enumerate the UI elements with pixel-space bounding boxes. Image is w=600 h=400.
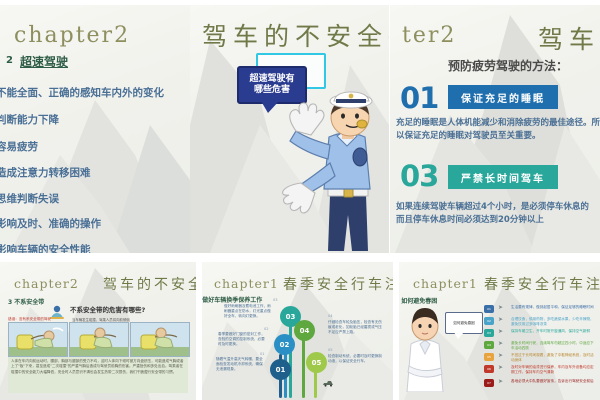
list-badge-6: 06 <box>484 365 494 373</box>
thumb3-speech-bubble: 如何避免春困 <box>445 312 483 334</box>
thumb3-title: 春季安全行车注意事 <box>484 274 600 294</box>
thumb1-title: 驾车的不安全行 <box>103 274 196 294</box>
comic-panel-3 <box>130 322 190 357</box>
thumb1-body-text: 人体在车内向前运动时，腰部、胸部与腿部的受力不均，这时人体向下倾时被方向盘挤压，… <box>11 359 185 375</box>
timeline-label-5: 05 <box>328 348 333 352</box>
panel-c-item-1-number: 01 <box>400 81 438 115</box>
thumb2-chapter-label: chapter1 <box>214 276 279 291</box>
arrow-icon-6: ➤ <box>498 364 503 371</box>
thumb3-chapter-label: chapter1 <box>413 276 478 291</box>
slide-panel-unsafe-driving[interactable]: 驾车的不安全行 超速驾驶有 哪些危害 <box>190 5 389 253</box>
panel-c-item-1-body: 充足的睡眠是人体机能减少和消除疲劳的最佳途径。所以保证充足的睡眠对驾驶员至关重要… <box>396 117 600 143</box>
panel-c-heading: 预防疲劳驾驶的方法： <box>448 57 568 74</box>
panel-a-bullet-5: 思维判断失误 <box>0 191 59 206</box>
timeline-dot-1[interactable]: 01 <box>270 359 291 380</box>
thumb3-row-text-3: 保持车厢卫生，开车时常开窗通风，保持空气新鲜 <box>511 329 595 334</box>
panel-a-bullet-3: 容易疲劳 <box>0 139 38 154</box>
thumb1-seated-person-icon <box>49 304 65 323</box>
timeline-text-5: 检查制动系统，必要时及时更换制动液，以保证安全行车。 <box>328 354 382 364</box>
thumb2-section-label: 2 做好车辆换季保养工作 <box>202 295 262 304</box>
thumb3-row-text-1: 生活要有规律，做到起居平和，保证足够的睡眠时间 <box>511 305 595 310</box>
thumb2-car-icon <box>322 372 334 391</box>
thumb3-row-text-2: 合理饮食，慎用药物，多吃蔬菜水果，少吃辛辣物，避免饮用过多咖啡浓茶 <box>511 317 595 327</box>
thumbnail-avoid-spring-fatigue-slide[interactable]: chapter1 春季安全行车注意事 2 如何避免春困 如何避免春困 01 02… <box>399 262 600 400</box>
comic-panel-2 <box>69 322 129 357</box>
timeline-dot-5[interactable]: 05 <box>306 352 327 373</box>
speech-bubble-line1: 超速驾驶有 <box>239 74 305 85</box>
panel-a-section-number: 2 <box>6 55 13 66</box>
thumb1-section-label: 3 不系安全带 <box>8 297 44 306</box>
thumb3-row-text-5: 不宜过于长时间观看，避免了中枢神经系统，及时活动身体 <box>511 353 595 363</box>
list-badge-4: 04 <box>484 341 494 349</box>
slide-panel-fatigue-prevention[interactable]: ter2 驾车 预防疲劳驾驶的方法： 01 保证充足的睡眠 充足的睡眠是人体机能… <box>390 5 600 253</box>
arrow-icon-4: ➤ <box>498 340 503 347</box>
timeline-dot-2[interactable]: 02 <box>274 334 295 355</box>
panel-c-item-2-number: 03 <box>400 159 438 193</box>
thumb2-title: 春季安全行车注意事 <box>283 274 393 294</box>
timeline-dot-4[interactable]: 04 <box>294 320 315 341</box>
timeline-text-2: 春季要做好门窗的密封工作，查验的空调的控制系统，必要时及时更换。 <box>218 332 268 348</box>
slide-panel-chapter2-overspeed[interactable]: chapter2 2 超速驾驶 不能全面、正确的感知车内外的变化 判断能力下降 … <box>0 5 190 253</box>
timeline-text-3: 做好雨刷器及蓄电池工作，雨刷器重点在防水，灯光重点做好全车，转向灯更换。 <box>224 304 274 320</box>
panel-a-bullet-4: 造成注意力转移困难 <box>0 165 91 180</box>
list-badge-7: 07 <box>484 379 494 387</box>
thumb3-row-text-7: 各地必须大中队要做好宣传，告诉出行驾驶安全前后 <box>511 379 595 384</box>
panel-c-title: 驾车 <box>538 20 600 56</box>
panel-c-item-2-tag-button[interactable]: 严禁长时间驾车 <box>448 165 558 189</box>
thumb3-row-text-6: 及时对车辆的油漆进行保养，车内及车外设备均应定期工作，保持车内空气清新 <box>511 365 595 375</box>
list-badge-2: 02 <box>484 317 494 325</box>
slide-gallery: chapter2 2 超速驾驶 不能全面、正确的感知车内外的变化 判断能力下降 … <box>0 0 600 400</box>
panel-a-bullet-2: 判断能力下降 <box>0 112 59 127</box>
list-badge-3: 03 <box>484 329 494 337</box>
traffic-police-officer-illustration <box>274 91 389 253</box>
thumbnail-seatbelt-slide[interactable]: chapter2 驾车的不安全行 3 不系安全带 不系安全带的危害有哪些? 错误… <box>0 262 196 400</box>
panel-a-chapter-label: chapter2 <box>14 23 130 48</box>
timeline-text-4: 仔细检查车轮及胎压，检查有无伤痕或老化，如轮胎已经磨损或气压不足应严禁上路。 <box>328 320 382 336</box>
thumb1-question: 不系安全带的危害有哪些? <box>70 304 145 314</box>
panel-divider-bc <box>389 5 390 253</box>
arrow-icon-3: ➤ <box>498 328 503 335</box>
thumb3-row-text-4: 避免长时间行驶，连续驾车勿超过四小时，中途应下车活动四肢 <box>511 341 595 351</box>
thumbnail-seasonal-maintenance-slide[interactable]: chapter1 春季安全行车注意事 2 做好车辆换季保养工作 01 02 03… <box>202 262 393 400</box>
arrow-icon-7: ➤ <box>498 378 503 385</box>
timeline-text-1: 随着气温升高天气转暖，要全面检查发动机冷却系统，确保无泄漏现象。 <box>216 357 266 373</box>
list-badge-5: 05 <box>484 353 494 361</box>
panel-a-bullet-6: 影响及时、准确的操作 <box>0 216 101 231</box>
panel-c-item-2-body: 如果连续驾驶车辆超过4个小时，是必须停车休息的而且停车休息时间必须达到20分钟以… <box>396 201 596 227</box>
arrow-icon-1: ➤ <box>498 304 503 311</box>
doctor-illustration <box>403 304 447 396</box>
arrow-icon-2: ➤ <box>498 316 503 323</box>
panel-a-bullet-1: 不能全面、正确的感知车内外的变化 <box>0 85 164 100</box>
timeline-label-3: 03 <box>273 298 278 302</box>
panel-a-section-title: 超速驾驶 <box>20 53 68 70</box>
timeline-label-4: 04 <box>328 314 333 318</box>
panel-a-bullet-7: 影响车辆的安全性能 <box>0 242 91 253</box>
timeline-label-1: 01 <box>260 352 265 356</box>
comic-panel-1 <box>8 322 68 357</box>
panel-c-item-1-tag-button[interactable]: 保证充足的睡眠 <box>448 85 558 109</box>
thumb1-chapter-label: chapter2 <box>14 276 79 291</box>
panel-b-title: 驾车的不安全行 <box>202 17 389 53</box>
timeline-label-2: 02 <box>264 327 269 331</box>
panel-c-chapter-label: ter2 <box>402 23 456 48</box>
arrow-icon-5: ➤ <box>498 352 503 359</box>
list-badge-1: 01 <box>484 305 494 313</box>
